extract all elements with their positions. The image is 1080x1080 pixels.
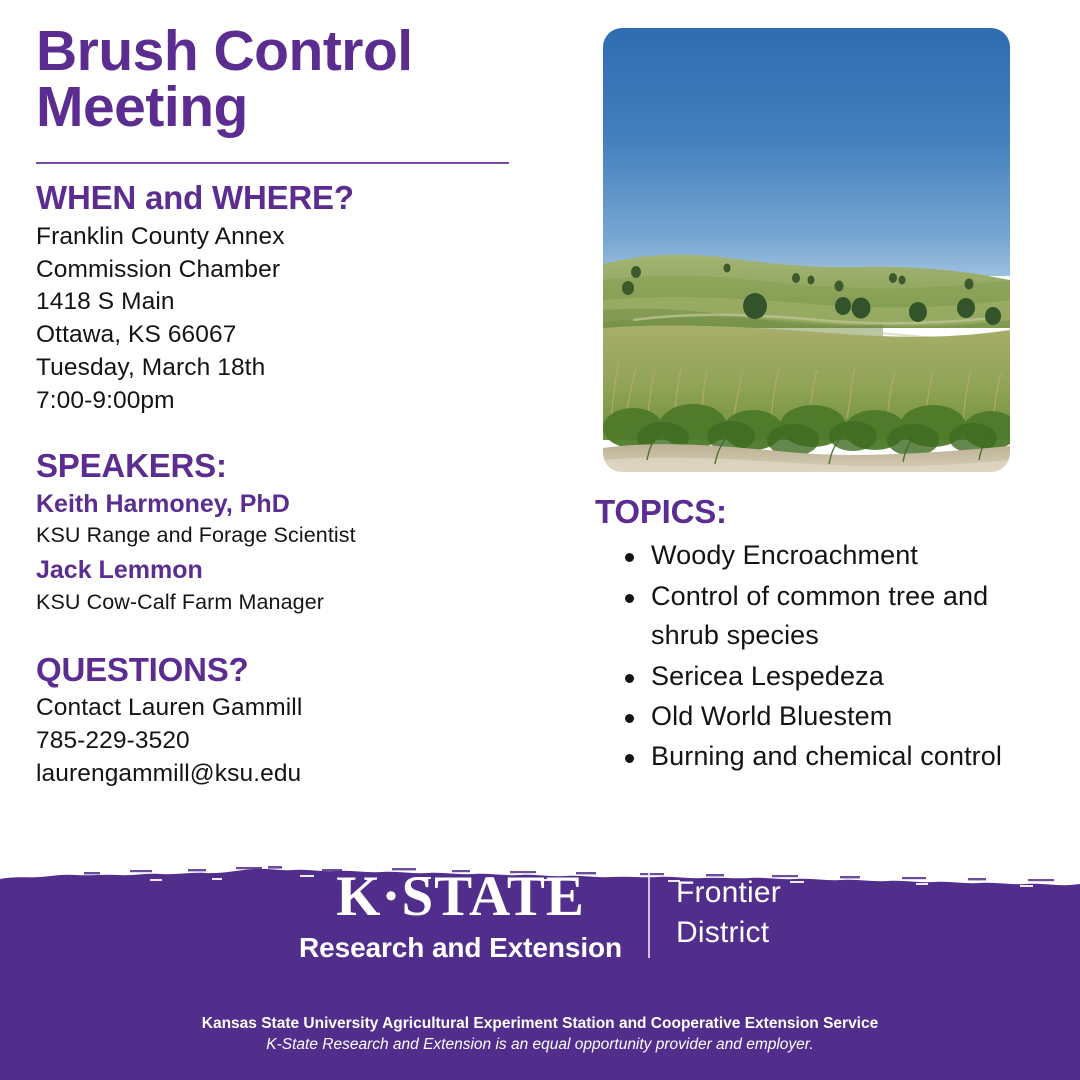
- when-where-line: Franklin County Annex: [36, 221, 536, 254]
- topics-heading: TOPICS:: [595, 494, 1055, 530]
- bullet-icon: [625, 553, 634, 562]
- when-where-line: 1418 S Main: [36, 286, 536, 319]
- speaker-name: Keith Harmoney, PhD: [36, 488, 536, 521]
- topic-label: Woody Encroachment: [651, 540, 918, 570]
- topic-label: Control of common tree and shrub species: [651, 581, 988, 650]
- speaker-title: KSU Cow-Calf Farm Manager: [36, 587, 536, 618]
- list-item: Woody Encroachment: [625, 536, 1055, 575]
- bullet-icon: [625, 754, 634, 763]
- speaker-entry: Keith Harmoney, PhD KSU Range and Forage…: [36, 488, 536, 552]
- contact-details: Contact Lauren Gammill 785-229-3520 laur…: [36, 692, 536, 790]
- legal-text-block: Kansas State University Agricultural Exp…: [0, 1014, 1080, 1057]
- when-where-line: Commission Chamber: [36, 254, 536, 287]
- questions-section: QUESTIONS? Contact Lauren Gammill 785-22…: [36, 652, 536, 790]
- contact-name: Contact Lauren Gammill: [36, 692, 536, 725]
- district-name: Frontier District: [676, 873, 781, 957]
- bullet-icon: [625, 674, 634, 683]
- rangeland-photo-image: [603, 28, 1010, 472]
- topics-section: TOPICS: Woody Encroachment Control of co…: [595, 494, 1055, 778]
- legal-line-secondary: K-State Research and Extension is an equ…: [0, 1034, 1080, 1056]
- topics-list: Woody Encroachment Control of common tre…: [595, 536, 1055, 776]
- speakers-section: SPEAKERS: Keith Harmoney, PhD KSU Range …: [36, 448, 536, 618]
- list-item: Control of common tree and shrub species: [625, 577, 1055, 656]
- page-title: Brush Control Meeting: [36, 24, 536, 136]
- bullet-icon: [625, 594, 634, 603]
- when-where-details: Franklin County Annex Commission Chamber…: [36, 221, 536, 418]
- topic-label: Sericea Lespedeza: [651, 661, 884, 691]
- bullet-icon: [625, 714, 634, 723]
- when-where-heading: WHEN and WHERE?: [36, 180, 536, 217]
- speakers-list: Keith Harmoney, PhD KSU Range and Forage…: [36, 488, 536, 618]
- kstate-subline: Research and Extension: [299, 934, 622, 962]
- flyer-left-column: Brush Control Meeting WHEN and WHERE? Fr…: [36, 24, 536, 790]
- speaker-title: KSU Range and Forage Scientist: [36, 520, 536, 551]
- contact-phone: 785-229-3520: [36, 725, 536, 758]
- kstate-wordmark: K·STATE: [299, 868, 622, 925]
- list-item: Burning and chemical control: [625, 737, 1055, 776]
- list-item: Old World Bluestem: [625, 697, 1055, 736]
- kstate-logo-row: K·STATE Research and Extension Frontier …: [0, 868, 1080, 962]
- legal-line-primary: Kansas State University Agricultural Exp…: [0, 1014, 1080, 1034]
- kstate-logo: K·STATE Research and Extension: [299, 868, 622, 962]
- questions-heading: QUESTIONS?: [36, 652, 536, 689]
- topic-label: Old World Bluestem: [651, 701, 892, 731]
- when-where-line: Ottawa, KS 66067: [36, 319, 536, 352]
- speaker-entry: Jack Lemmon KSU Cow-Calf Farm Manager: [36, 554, 536, 618]
- rangeland-photo: [603, 28, 1010, 472]
- when-where-line: 7:00-9:00pm: [36, 385, 536, 418]
- logo-divider: [648, 872, 650, 958]
- topic-label: Burning and chemical control: [651, 741, 1002, 771]
- when-where-line: Tuesday, March 18th: [36, 352, 536, 385]
- list-item: Sericea Lespedeza: [625, 657, 1055, 696]
- title-divider: [36, 162, 509, 164]
- when-where-section: WHEN and WHERE? Franklin County Annex Co…: [36, 180, 536, 418]
- contact-email: laurengammill@ksu.edu: [36, 758, 536, 791]
- speakers-heading: SPEAKERS:: [36, 448, 536, 485]
- speaker-name: Jack Lemmon: [36, 554, 536, 587]
